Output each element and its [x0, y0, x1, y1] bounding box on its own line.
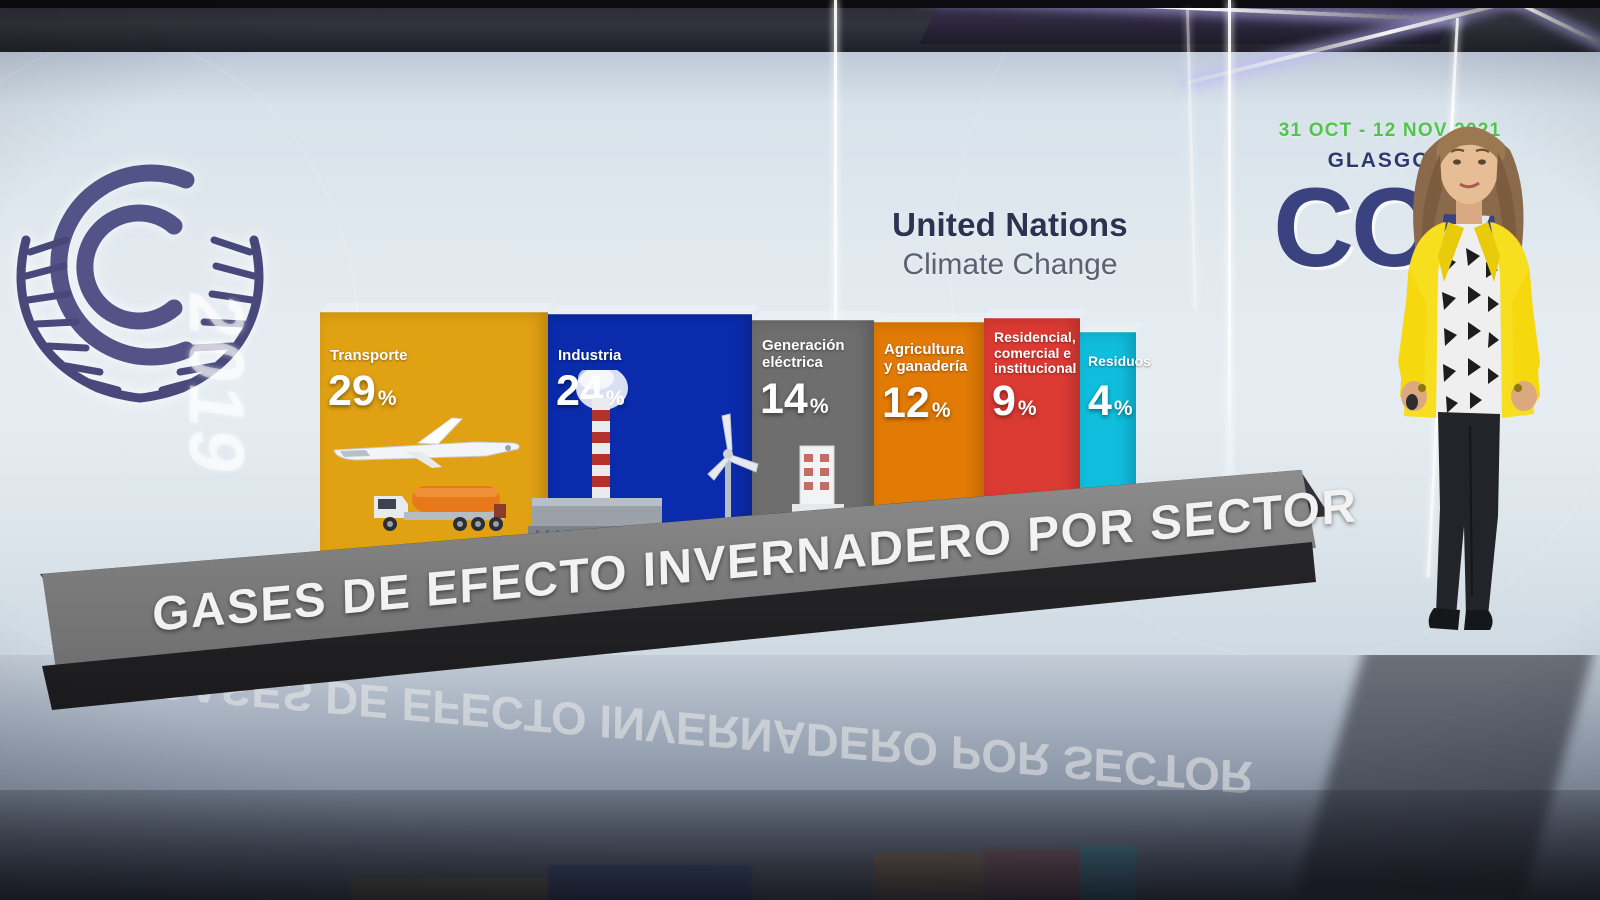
bar-label-residuos: Residuos [1088, 354, 1142, 370]
bar-value-unit: % [378, 387, 397, 410]
broadcast-screenshot: United Nations Climate Change 31 OCT - 1… [0, 0, 1600, 900]
bar-top-face [320, 303, 556, 313]
bar-value-number: 29 [328, 367, 376, 415]
airplane-icon [326, 412, 526, 472]
bar-value-unit: % [1114, 397, 1133, 420]
year-label: 2019 [171, 287, 262, 481]
bar-label-agricultura: Agricultura y ganadería [884, 342, 967, 376]
bar-top-face [874, 313, 992, 323]
bar-value-transporte: 29% [328, 370, 397, 413]
bar-value-agricultura: 12% [882, 382, 951, 425]
bar-value-number: 4 [1088, 377, 1112, 425]
bar-value-unit: % [932, 399, 951, 422]
bar-label-line: Agricultura [884, 341, 964, 358]
bar-value-number: 9 [992, 377, 1016, 425]
bar-label-line: comercial e [994, 345, 1071, 361]
bar-value-residencial: 9% [992, 380, 1037, 423]
bar-top-face [752, 311, 882, 321]
bar-label-line: eléctrica [762, 354, 823, 371]
bar-top-face [548, 305, 760, 315]
bar-label-industria: Industria [558, 348, 621, 365]
bar-value-number: 14 [760, 375, 808, 423]
bar-value-unit: % [810, 395, 829, 418]
bar-label-line: Transporte [330, 347, 408, 364]
bar-label-line: Generación [762, 337, 845, 354]
bar-label-line: Industria [558, 347, 621, 364]
podium-base: GASES DE EFECTO INVERNADERO POR SECTOR [0, 470, 1330, 710]
bar-top-face [984, 309, 1088, 319]
bar-value-unit: % [1018, 397, 1037, 420]
bar-label-line: Residencial, [994, 329, 1076, 345]
bar-label-transporte: Transporte [330, 348, 408, 365]
presenter-figure [1352, 96, 1582, 636]
bar-label-residencial: Residencial, comercial e institucional [994, 330, 1076, 377]
bar-value-residuos: 4% [1088, 380, 1133, 423]
bar-label-line: institucional [994, 360, 1076, 376]
floor-far-shadow [0, 790, 1600, 900]
bar-label-generacion: Generación eléctrica [762, 338, 845, 372]
bar-top-face [1080, 323, 1144, 333]
bar-value-generacion: 14% [760, 378, 829, 421]
bar-value-number: 12 [882, 379, 930, 427]
bar-label-line: y ganadería [884, 358, 967, 375]
bar-label-line: Residuos [1088, 353, 1151, 369]
